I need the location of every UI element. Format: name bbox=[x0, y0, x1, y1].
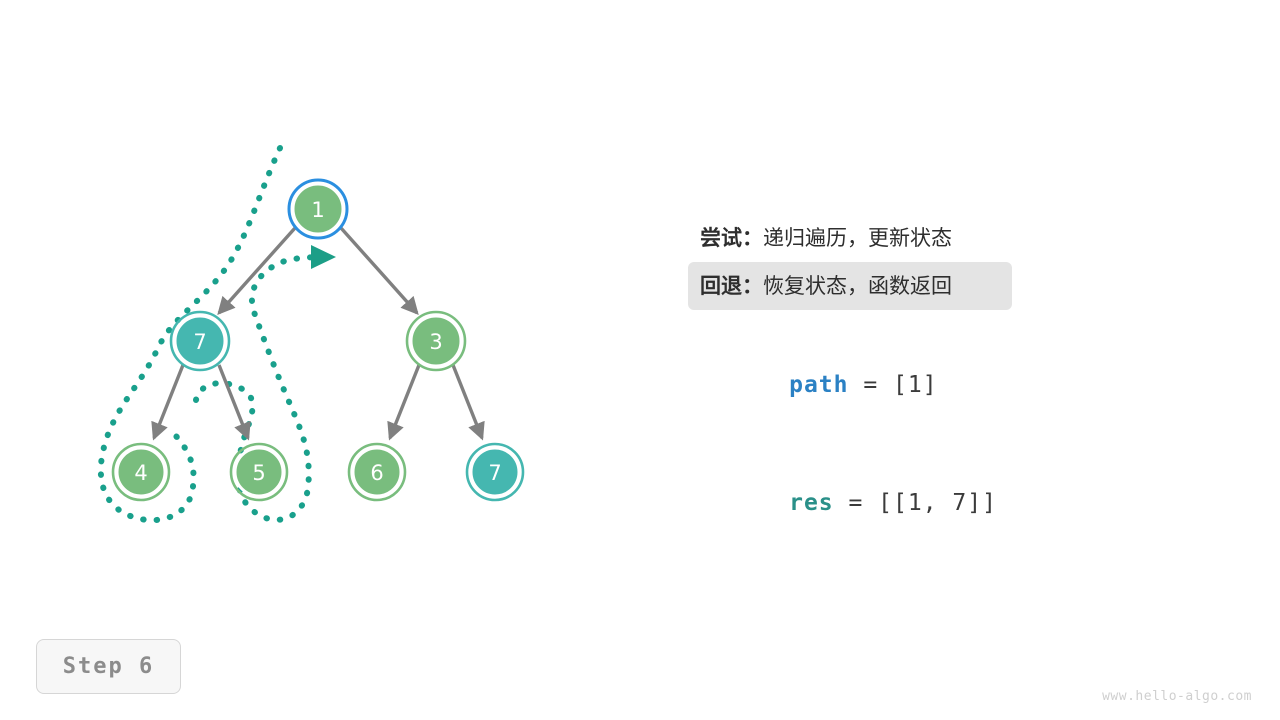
res-variable-name: res bbox=[789, 490, 834, 516]
edge-3-7r bbox=[453, 365, 482, 438]
edge-1-7 bbox=[219, 228, 295, 313]
tree-node-4[interactable]: 4 bbox=[113, 444, 169, 500]
tree-node-3-label: 3 bbox=[429, 330, 442, 354]
edge-7-4 bbox=[154, 365, 183, 438]
edge-1-3 bbox=[341, 228, 417, 313]
tree-node-4-label: 4 bbox=[134, 461, 147, 485]
path-variable-value: = [1] bbox=[848, 372, 937, 398]
path-variable-line: path = [1] bbox=[688, 316, 1088, 362]
backtrack-text: 恢复状态，函数返回 bbox=[763, 274, 952, 298]
edge-7-5 bbox=[219, 365, 248, 438]
tree-node-5-label: 5 bbox=[252, 461, 265, 485]
tree-node-7-left-label: 7 bbox=[193, 330, 206, 354]
res-variable-value: = [[1, 7]] bbox=[834, 490, 997, 516]
tree-node-1[interactable]: 1 bbox=[289, 180, 347, 238]
step-badge-label: Step 6 bbox=[63, 654, 154, 679]
try-text: 递归遍历，更新状态 bbox=[763, 226, 952, 250]
edge-3-6 bbox=[390, 365, 419, 438]
tree-node-1-label: 1 bbox=[311, 198, 324, 222]
tree-node-6[interactable]: 6 bbox=[349, 444, 405, 500]
backtrack-keyword: 回退： bbox=[700, 274, 763, 298]
path-variable-name: path bbox=[789, 372, 848, 398]
trace-arrowhead-icon bbox=[311, 245, 336, 269]
tree-node-7-left[interactable]: 7 bbox=[171, 312, 229, 370]
binary-tree-graphic: 1 7 3 4 5 6 bbox=[0, 0, 1280, 720]
try-keyword: 尝试： bbox=[700, 226, 763, 250]
explanation-panel: 尝试：递归遍历，更新状态 回退：恢复状态，函数返回 path = [1] res… bbox=[688, 214, 1088, 480]
tree-node-5[interactable]: 5 bbox=[231, 444, 287, 500]
backtrack-line: 回退：恢复状态，函数返回 bbox=[688, 262, 1012, 310]
step-badge: Step 6 bbox=[36, 639, 181, 694]
tree-node-7-right-label: 7 bbox=[488, 461, 501, 485]
tree-node-3[interactable]: 3 bbox=[407, 312, 465, 370]
diagram-canvas: 1 7 3 4 5 6 bbox=[0, 0, 1280, 720]
tree-node-6-label: 6 bbox=[370, 461, 383, 485]
watermark: www.hello-algo.com bbox=[1102, 689, 1252, 704]
tree-node-7-right[interactable]: 7 bbox=[467, 444, 523, 500]
try-line: 尝试：递归遍历，更新状态 bbox=[688, 214, 1012, 262]
